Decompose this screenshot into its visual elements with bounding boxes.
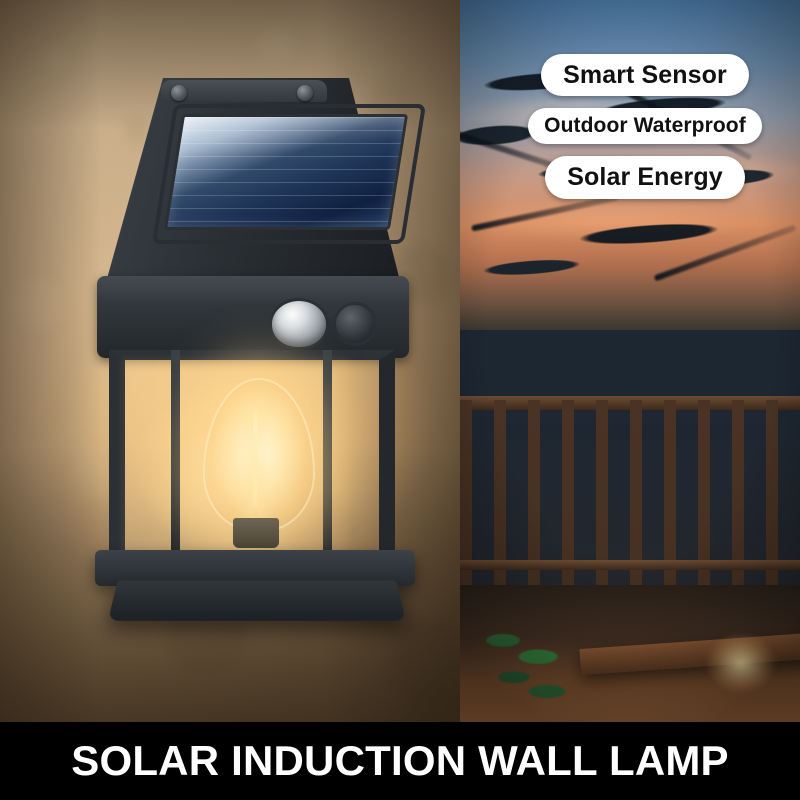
lamp-photo-panel [0, 0, 460, 722]
motion-sensor-icon [269, 298, 329, 350]
mount-screw-right-icon [297, 85, 313, 101]
feature-pill-outdoor-waterproof: Outdoor Waterproof [528, 108, 762, 144]
feature-pill-list: Smart Sensor Outdoor Waterproof Solar En… [500, 54, 790, 199]
lamp-base-shelf [108, 581, 406, 621]
title-banner: SOLAR INDUCTION WALL LAMP [0, 722, 800, 800]
banner-title: SOLAR INDUCTION WALL LAMP [71, 737, 729, 785]
light-sensor-icon [333, 302, 377, 346]
lantern-frame-bar-left [171, 350, 180, 562]
solar-wall-lamp [75, 78, 425, 608]
bulb-socket [233, 518, 279, 548]
lantern-frame-bar-right [323, 350, 332, 562]
solar-panel-frame [152, 104, 426, 244]
bulb-filament [253, 408, 258, 516]
feature-pill-smart-sensor: Smart Sensor [541, 54, 749, 96]
mount-screw-left-icon [171, 85, 187, 101]
feature-pill-solar-energy: Solar Energy [545, 156, 744, 198]
product-poster: Smart Sensor Outdoor Waterproof Solar En… [0, 0, 800, 800]
